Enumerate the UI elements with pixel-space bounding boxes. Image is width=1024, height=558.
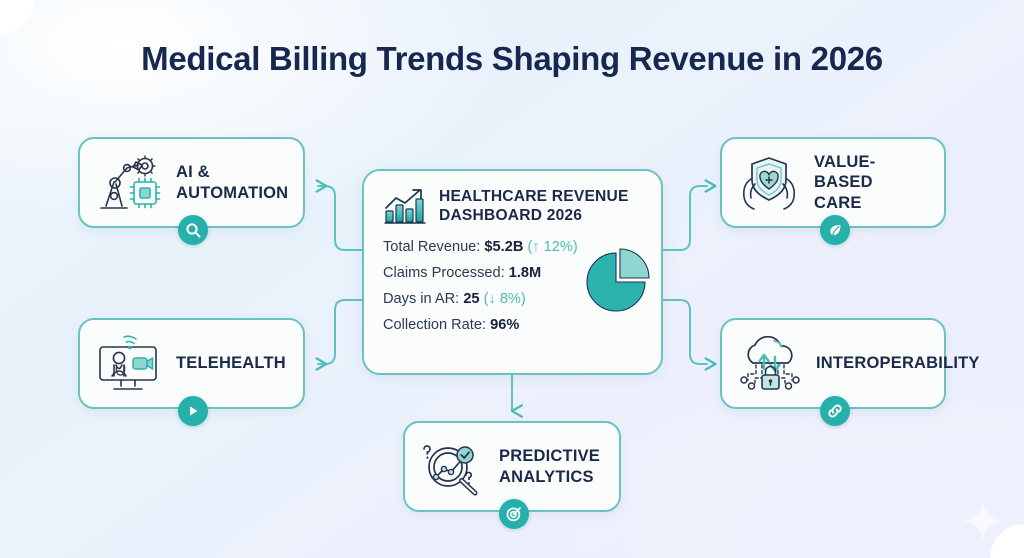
sparkle-decoration-icon bbox=[960, 498, 1006, 544]
magnifier-icon bbox=[185, 222, 202, 239]
page-corner-top-left bbox=[0, 0, 34, 34]
card-value-label-line2: CARE bbox=[814, 193, 930, 213]
metric-value: 25 bbox=[463, 291, 479, 307]
cloud-lock-network-icon bbox=[736, 334, 804, 394]
card-predictive-analytics[interactable]: PREDICTIVE ANALYTICS bbox=[403, 421, 621, 512]
bar-chart-growth-icon bbox=[383, 187, 427, 225]
badge-telehealth[interactable] bbox=[178, 396, 208, 426]
target-icon bbox=[505, 505, 523, 523]
card-ai-automation[interactable]: AI & AUTOMATION bbox=[78, 137, 305, 228]
card-interop-label-line1: INTEROPERABILITY bbox=[816, 353, 980, 373]
metric-delta: (↓ 8%) bbox=[484, 291, 526, 307]
badge-predictive-analytics[interactable] bbox=[499, 499, 529, 529]
metric-row: Collection Rate: 96% bbox=[383, 317, 643, 333]
badge-interoperability[interactable] bbox=[820, 396, 850, 426]
badge-value-based-care[interactable] bbox=[820, 215, 850, 245]
metric-label: Days in AR: bbox=[383, 291, 459, 307]
shield-heart-hands-icon bbox=[736, 153, 802, 213]
badge-ai-automation[interactable] bbox=[178, 215, 208, 245]
card-value-based-care[interactable]: VALUE-BASED CARE bbox=[720, 137, 946, 228]
metric-value: 1.8M bbox=[509, 265, 541, 281]
card-ai-label: AI & AUTOMATION bbox=[176, 162, 288, 202]
center-card-header: HEALTHCARE REVENUE DASHBOARD 2026 bbox=[364, 171, 661, 226]
metric-value: $5.2B bbox=[484, 239, 523, 255]
monitor-doctor-videocam-icon bbox=[94, 333, 164, 395]
card-predictive-label-line2: ANALYTICS bbox=[499, 467, 600, 487]
card-telehealth-label: TELEHEALTH bbox=[176, 353, 286, 373]
link-chain-icon bbox=[826, 402, 844, 420]
card-interoperability-label: INTEROPERABILITY bbox=[816, 353, 980, 373]
dashboard-metrics-list: Total Revenue: $5.2B (↑ 12%) Claims Proc… bbox=[364, 226, 661, 333]
card-predictive-analytics-label: PREDICTIVE ANALYTICS bbox=[499, 446, 600, 486]
robot-arm-gear-chip-icon bbox=[94, 152, 164, 214]
card-telehealth-label-line1: TELEHEALTH bbox=[176, 353, 286, 373]
card-ai-label-line2: AUTOMATION bbox=[176, 183, 288, 203]
card-predictive-label-line1: PREDICTIVE bbox=[499, 446, 600, 466]
infographic-canvas: Medical Billing Trends Shaping Revenue i… bbox=[0, 0, 1024, 558]
card-telehealth[interactable]: TELEHEALTH bbox=[78, 318, 305, 409]
play-icon bbox=[185, 403, 201, 419]
metric-label: Total Revenue: bbox=[383, 239, 480, 255]
center-dashboard-card[interactable]: HEALTHCARE REVENUE DASHBOARD 2026 Total … bbox=[362, 169, 663, 375]
center-card-title: HEALTHCARE REVENUE DASHBOARD 2026 bbox=[439, 187, 643, 226]
card-interoperability[interactable]: INTEROPERABILITY bbox=[720, 318, 946, 409]
magnifier-linechart-question-icon bbox=[419, 436, 487, 498]
metric-label: Collection Rate: bbox=[383, 317, 486, 333]
card-value-label-line1: VALUE-BASED bbox=[814, 152, 930, 192]
page-title: Medical Billing Trends Shaping Revenue i… bbox=[0, 40, 1024, 78]
metric-delta: (↑ 12%) bbox=[527, 239, 577, 255]
metric-value: 96% bbox=[490, 317, 519, 333]
card-value-based-care-label: VALUE-BASED CARE bbox=[814, 152, 930, 212]
pie-chart-icon bbox=[582, 244, 654, 316]
card-ai-label-line1: AI & bbox=[176, 162, 288, 182]
leaf-icon bbox=[827, 222, 844, 239]
metric-label: Claims Processed: bbox=[383, 265, 505, 281]
